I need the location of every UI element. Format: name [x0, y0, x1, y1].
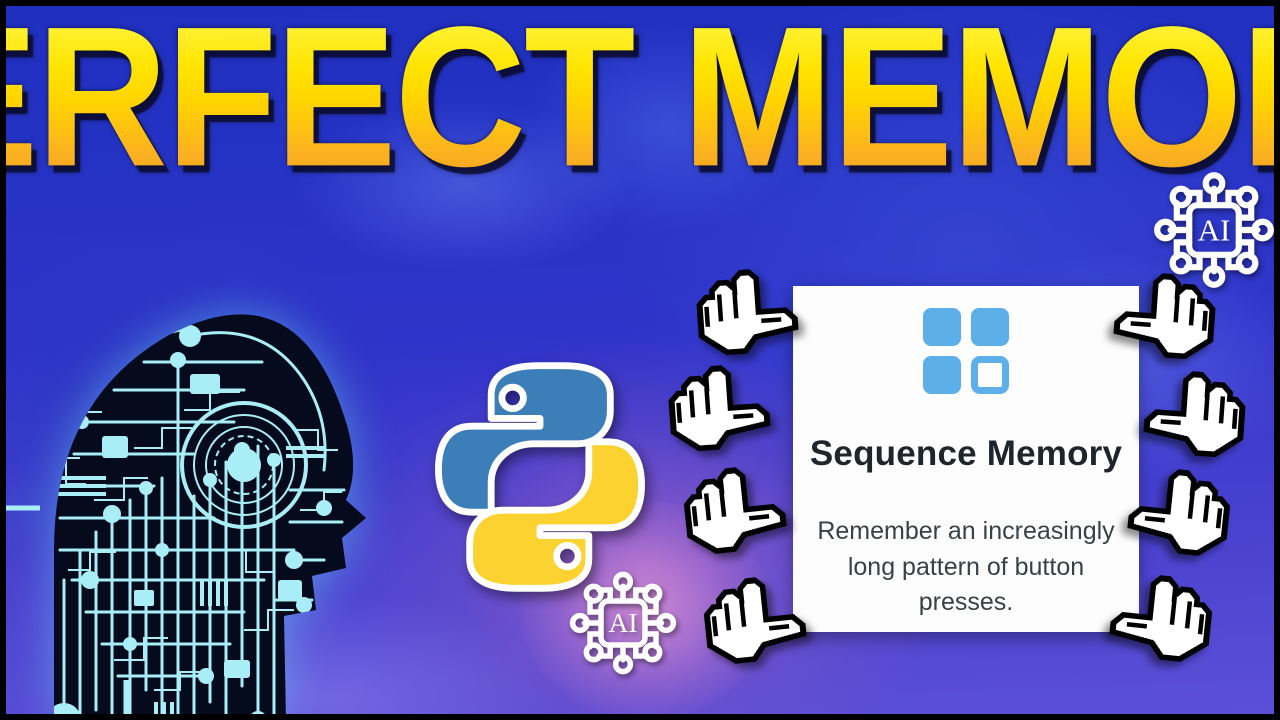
sequence-memory-card[interactable]: Sequence Memory Remember an increasingly…	[793, 286, 1139, 632]
pointing-hand-cursor-icon	[674, 460, 797, 583]
pointing-hand-cursor-icon	[1116, 462, 1239, 585]
square-top-left	[923, 308, 961, 346]
four-squares-icon	[923, 308, 1009, 394]
square-top-right	[971, 308, 1009, 346]
ai-chip-label: AI	[1198, 212, 1231, 247]
card-description: Remember an increasingly long pattern of…	[809, 514, 1123, 621]
python-logo-icon	[415, 352, 665, 602]
thumbnail-canvas: PERFECT MEMORY	[0, 0, 1280, 720]
card-title: Sequence Memory	[793, 434, 1139, 474]
circuit-head-icon	[0, 250, 374, 720]
pointing-hand-cursor-icon	[1098, 568, 1221, 691]
pointing-hand-cursor-icon	[660, 360, 780, 480]
square-bottom-left	[923, 356, 961, 394]
ai-chip-label: AI	[608, 607, 637, 638]
ai-chip-icon: AI	[1152, 168, 1276, 292]
pointing-hand-cursor-icon	[694, 570, 817, 693]
ai-chip-icon: AI	[568, 568, 678, 678]
square-bottom-right-outline	[971, 356, 1009, 394]
